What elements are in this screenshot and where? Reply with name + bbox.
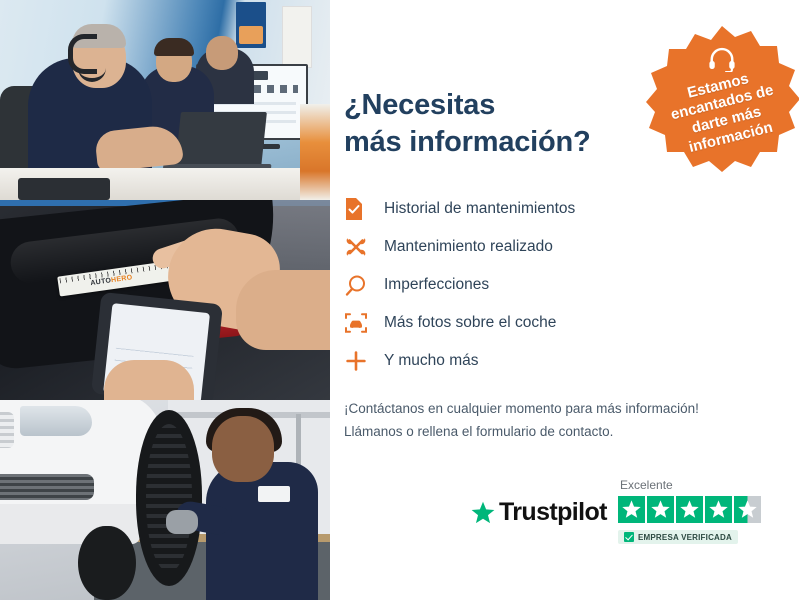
- check-icon: [624, 532, 634, 542]
- list-item-label: Mantenimiento realizado: [384, 238, 553, 256]
- list-item: Mantenimiento realizado: [344, 228, 674, 266]
- plus-icon: [344, 346, 384, 376]
- headline-line-2: más información?: [344, 126, 591, 158]
- rating-stars: [618, 496, 761, 523]
- star-1: [618, 496, 645, 523]
- list-item-label: Historial de mantenimientos: [384, 200, 575, 218]
- contact-line-1: ¡Contáctanos en cualquier momento para m…: [344, 401, 699, 416]
- list-item: Más fotos sobre el coche: [344, 304, 674, 342]
- list-item: Y mucho más: [344, 342, 674, 380]
- contact-line-2: Llámanos o rellena el formulario de cont…: [344, 424, 613, 439]
- list-item: Imperfecciones: [344, 266, 674, 304]
- damage-inspection-photo: AUTOHERO: [0, 200, 330, 400]
- content-panel: ¿Necesitas más información? Estamos enca…: [330, 0, 799, 600]
- magnifier-icon: [344, 270, 384, 300]
- page-title: ¿Necesitas más información?: [344, 87, 644, 160]
- list-item-label: Imperfecciones: [384, 276, 489, 294]
- document-check-icon: [344, 194, 384, 224]
- trustpilot-logo: Trustpilot: [470, 498, 607, 527]
- list-item: Historial de mantenimientos: [344, 190, 674, 228]
- feature-list: Historial de mantenimientos M: [344, 190, 674, 380]
- trustpilot-star-icon: [470, 500, 496, 526]
- star-3: [676, 496, 703, 523]
- star-2: [647, 496, 674, 523]
- badge-label: Estamos encantados de darte más informac…: [655, 62, 794, 161]
- verified-label: EMPRESA VERIFICADA: [638, 533, 732, 542]
- rating-label: Excelente: [620, 478, 673, 492]
- wheel-inspection-photo: [0, 400, 330, 600]
- verified-badge: EMPRESA VERIFICADA: [618, 530, 738, 544]
- call-center-agents-photo: [0, 0, 330, 200]
- trustpilot-wordmark: Trustpilot: [499, 498, 607, 527]
- status-badge: Estamos encantados de darte más informac…: [642, 22, 799, 182]
- headline-line-1: ¿Necesitas: [344, 89, 495, 121]
- star-4: [705, 496, 732, 523]
- info-banner: AUTOHERO: [0, 0, 799, 600]
- tools-cross-icon: [344, 232, 384, 262]
- contact-text: ¡Contáctanos en cualquier momento para m…: [344, 398, 764, 443]
- photo-column: AUTOHERO: [0, 0, 330, 600]
- trustpilot-widget[interactable]: Trustpilot Excelente EMPRESA VERIFICADA: [470, 476, 770, 556]
- car-frame-icon: [344, 308, 384, 338]
- list-item-label: Y mucho más: [384, 352, 478, 370]
- list-item-label: Más fotos sobre el coche: [384, 314, 556, 332]
- star-5-half: [734, 496, 761, 523]
